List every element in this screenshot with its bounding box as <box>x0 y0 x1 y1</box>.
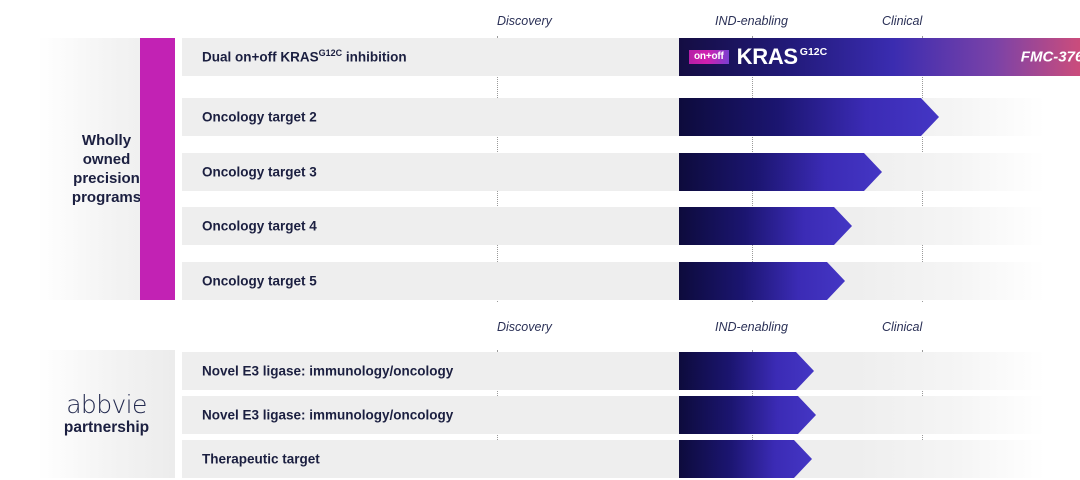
phase-label-discovery: Discovery <box>497 320 552 334</box>
progress-bar-oncology-target-4[interactable] <box>679 207 852 245</box>
row-label-kras: Dual on+off KRASG12C inhibition <box>202 50 407 65</box>
kras-phase-tag: FMC-376—Phase 1 <box>1021 49 1080 66</box>
section-wholly-owned: Wholly owned precision programs Discover… <box>0 0 1080 310</box>
phase-label-ind-enabling: IND-enabling <box>715 320 788 334</box>
row-label-oncology-target-5: Oncology target 5 <box>202 274 317 289</box>
phase-label-clinical: Clinical <box>882 320 922 334</box>
table-row[interactable]: Oncology target 3 <box>182 153 1045 191</box>
progress-bar-oncology-target-5[interactable] <box>679 262 845 300</box>
phase-label-discovery: Discovery <box>497 14 552 28</box>
progress-bar-kras[interactable]: on+off KRAS G12C FMC-376—Phase 1 <box>679 38 1080 76</box>
abbvie-logo: abbvie <box>66 392 147 417</box>
table-row[interactable]: Oncology target 4 <box>182 207 1045 245</box>
progress-bar-oncology-target-2[interactable] <box>679 98 939 136</box>
on-off-badge: on+off <box>689 50 729 65</box>
table-row[interactable]: Oncology target 5 <box>182 262 1045 300</box>
table-row[interactable]: Novel E3 ligase: immunology/oncology <box>182 352 1045 390</box>
category-title-line-1: Wholly <box>72 131 141 150</box>
progress-bar-oncology-target-3[interactable] <box>679 153 882 191</box>
phase-label-ind-enabling: IND-enabling <box>715 14 788 28</box>
progress-bar-novel-e3-ligase-1[interactable] <box>679 352 814 390</box>
row-label-therapeutic-target: Therapeutic target <box>202 452 320 467</box>
category-title-line-4: programs <box>72 188 141 207</box>
section-abbvie-partnership: abbvie partnership Discovery IND-enablin… <box>0 312 1080 480</box>
category-panel-abbvie: abbvie partnership <box>38 350 175 478</box>
phase-header-abbvie: Discovery IND-enabling Clinical <box>497 320 1045 338</box>
table-row[interactable]: Oncology target 2 <box>182 98 1045 136</box>
row-label-oncology-target-2: Oncology target 2 <box>202 110 317 125</box>
table-row[interactable]: Novel E3 ligase: immunology/oncology <box>182 396 1045 434</box>
table-row[interactable]: Therapeutic target <box>182 440 1045 478</box>
category-title-wholly-owned: Wholly owned precision programs <box>72 131 141 208</box>
category-title-line-3: precision <box>72 169 141 188</box>
category-title-line-2: owned <box>72 150 141 169</box>
abbvie-partnership-label: partnership <box>64 420 149 436</box>
row-label-novel-e3-ligase-2: Novel E3 ligase: immunology/oncology <box>202 408 453 423</box>
progress-bar-novel-e3-ligase-2[interactable] <box>679 396 816 434</box>
row-label-novel-e3-ligase-1: Novel E3 ligase: immunology/oncology <box>202 364 453 379</box>
phase-header-wholly-owned: Discovery IND-enabling Clinical <box>497 14 1045 32</box>
table-row[interactable]: Dual on+off KRASG12C inhibition on+off K… <box>182 38 1045 76</box>
phase-label-clinical: Clinical <box>882 14 922 28</box>
row-label-oncology-target-3: Oncology target 3 <box>202 165 317 180</box>
progress-bar-therapeutic-target[interactable] <box>679 440 812 478</box>
accent-bar-magenta <box>140 38 175 300</box>
row-label-oncology-target-4: Oncology target 4 <box>202 219 317 234</box>
kras-molecule-superscript: G12C <box>800 47 827 58</box>
pipeline-chart: Wholly owned precision programs Discover… <box>0 0 1080 480</box>
kras-molecule-name: KRAS <box>737 46 798 68</box>
